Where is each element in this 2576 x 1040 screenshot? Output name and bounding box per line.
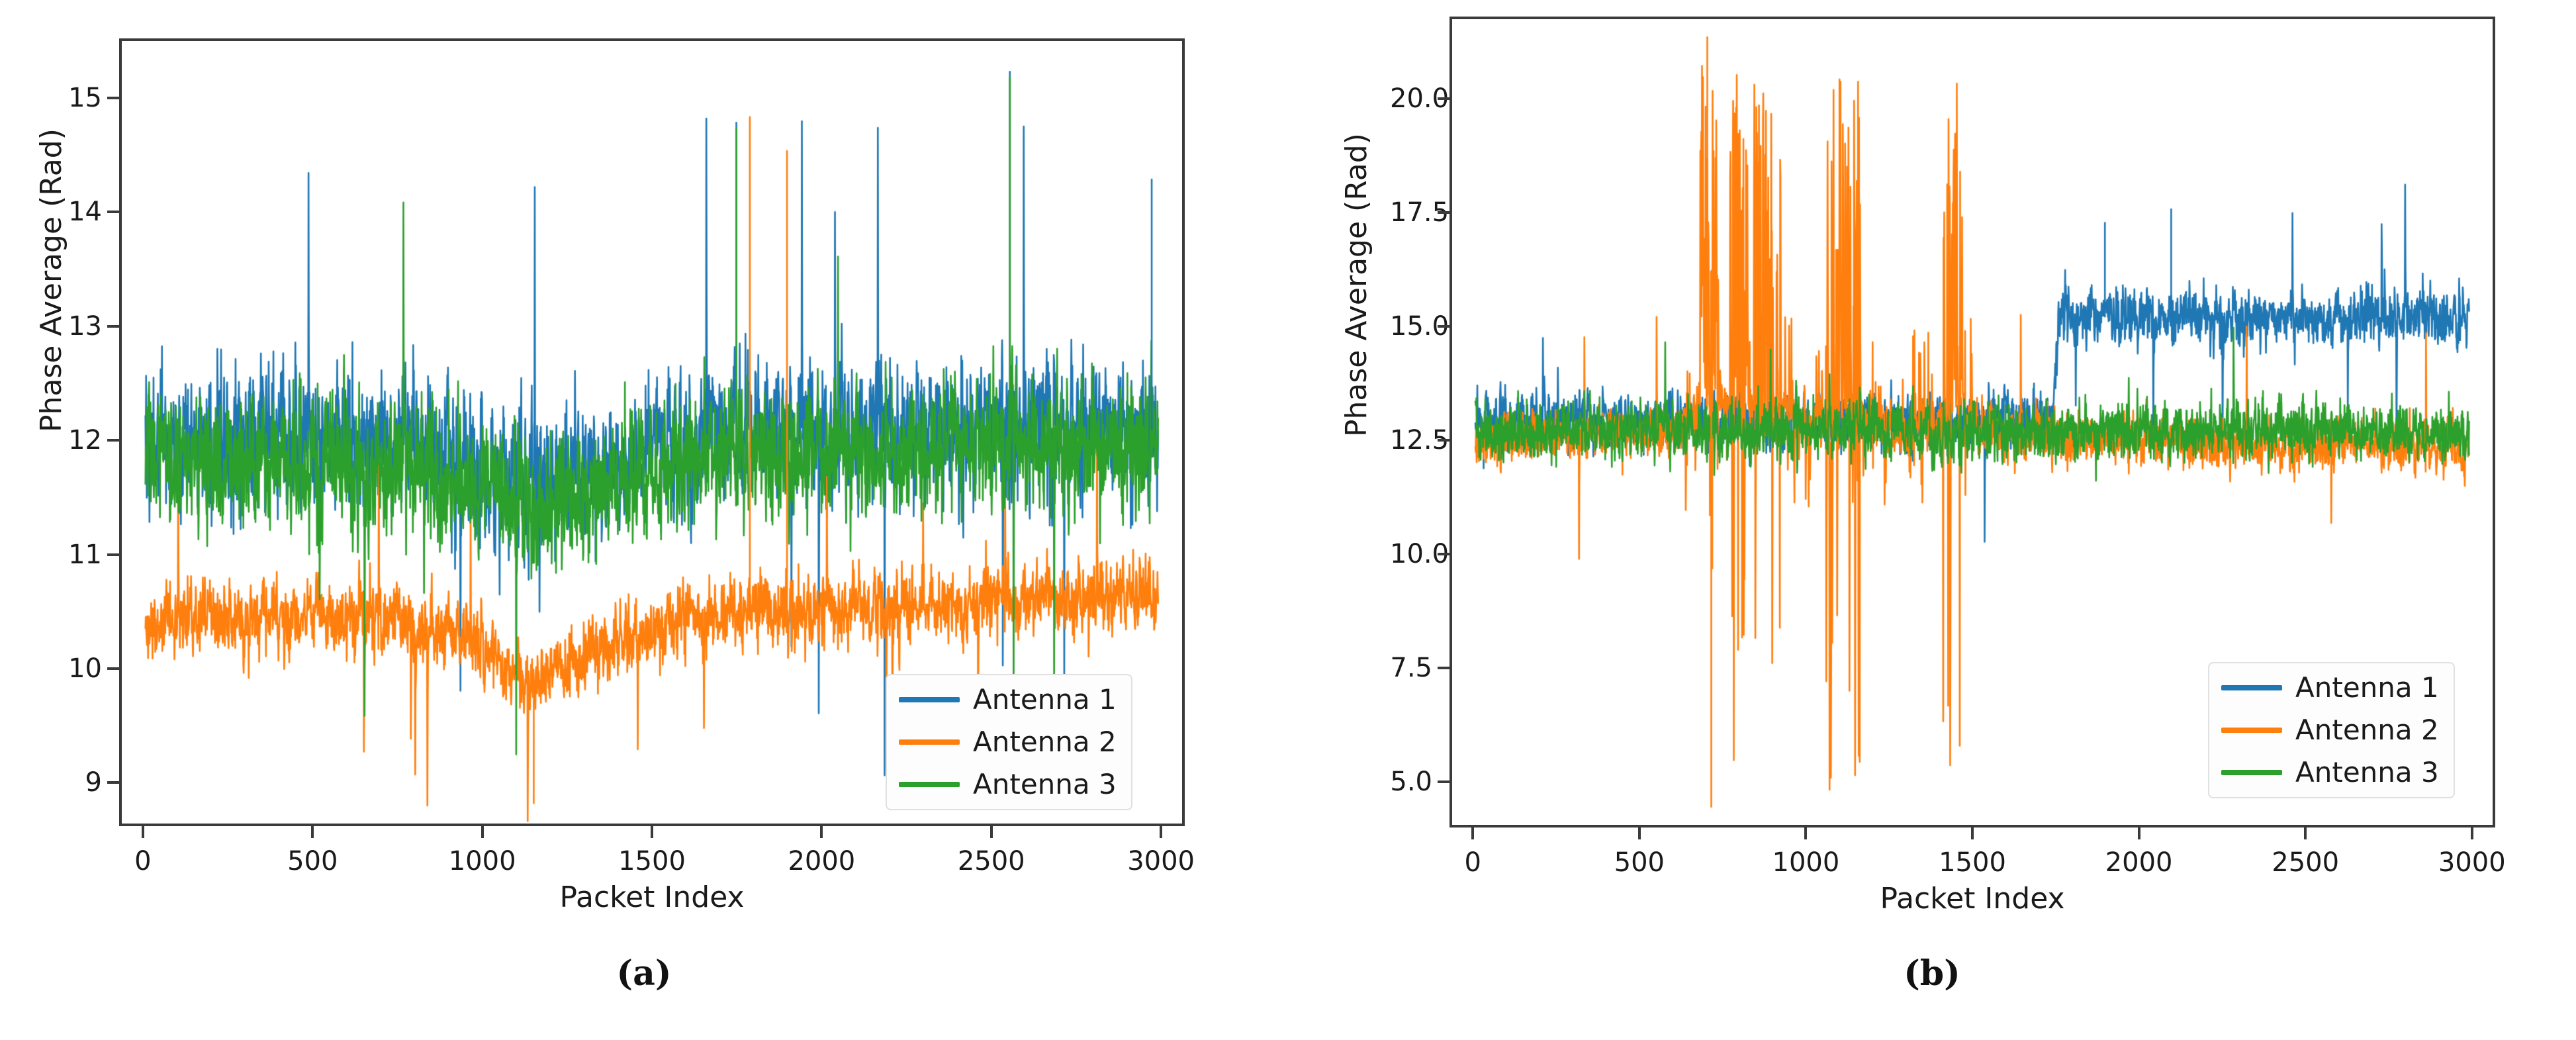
x-tick-mark [1971,827,1974,839]
x-tick-mark [2138,827,2140,839]
x-tick-mark [1638,827,1641,839]
legend-item[interactable]: Antenna 3 [899,771,1117,798]
x-tick-label: 2500 [958,846,1025,876]
y-tick-mark [1438,667,1449,669]
x-tick-label: 3000 [2438,847,2506,878]
y-tick-label: 7.5 [1390,653,1432,683]
x-tick-label: 500 [1614,847,1665,878]
y-tick-mark [107,667,119,670]
y-tick-mark [107,97,119,99]
caption-a: (a) [0,953,1288,994]
legend-item[interactable]: Antenna 3 [2221,759,2439,786]
legend-label: Antenna 2 [973,728,1117,756]
y-tick-label: 11 [60,540,102,570]
x-axis-label-b: Packet Index [1449,882,2495,916]
caption-b: (b) [1288,953,2576,994]
x-tick-label: 1000 [1772,847,1840,878]
legend-a[interactable]: Antenna 1Antenna 2Antenna 3 [886,674,1132,810]
x-tick-label: 3000 [1127,846,1195,876]
x-tick-label: 0 [134,846,151,876]
legend-item[interactable]: Antenna 1 [899,686,1117,714]
x-tick-mark [1804,827,1807,839]
x-tick-mark [1471,827,1474,839]
x-tick-label: 1000 [449,846,516,876]
x-tick-label: 1500 [618,846,686,876]
legend-color-swatch [899,697,960,702]
x-tick-mark [1160,826,1162,838]
x-tick-mark [990,826,993,838]
y-tick-label: 17.5 [1390,197,1432,228]
legend-color-swatch [899,739,960,745]
figure-root: 9101112131415 050010001500200025003000 P… [0,0,2576,1040]
y-tick-mark [107,211,119,213]
legend-color-swatch [899,782,960,787]
y-tick-mark [107,553,119,556]
y-tick-label: 15 [60,83,102,113]
y-tick-label: 10.0 [1390,539,1432,569]
x-tick-label: 1500 [1939,847,2006,878]
y-axis-label-a: Phase Average (Rad) [34,128,68,432]
legend-label: Antenna 1 [973,686,1117,714]
x-tick-mark [311,826,314,838]
x-tick-label: 500 [287,846,338,876]
y-tick-mark [1438,439,1449,442]
legend-label: Antenna 2 [2295,716,2439,744]
y-tick-label: 9 [60,767,102,798]
x-tick-mark [481,826,484,838]
x-tick-label: 2000 [788,846,855,876]
y-tick-label: 5.0 [1390,767,1432,797]
legend-item[interactable]: Antenna 2 [899,728,1117,756]
legend-color-swatch [2221,770,2282,775]
y-tick-mark [1438,97,1449,100]
x-tick-mark [2471,827,2473,839]
x-tick-mark [142,826,144,838]
y-tick-mark [1438,211,1449,214]
y-tick-mark [1438,780,1449,783]
legend-color-swatch [2221,685,2282,690]
legend-color-swatch [2221,728,2282,733]
x-tick-label: 0 [1464,847,1481,878]
y-tick-mark [107,781,119,784]
y-tick-mark [107,325,119,328]
y-tick-mark [1438,325,1449,328]
subfigure-a: 9101112131415 050010001500200025003000 P… [0,0,1288,1040]
y-tick-label: 12.5 [1390,425,1432,455]
legend-label: Antenna 3 [2295,759,2439,786]
y-axis-label-b: Phase Average (Rad) [1340,133,1373,437]
y-tick-mark [107,439,119,442]
legend-b[interactable]: Antenna 1Antenna 2Antenna 3 [2208,662,2455,798]
y-tick-label: 20.0 [1390,83,1432,114]
x-tick-label: 2500 [2272,847,2339,878]
x-tick-mark [820,826,823,838]
x-axis-label-a: Packet Index [119,880,1185,914]
legend-label: Antenna 3 [973,771,1117,798]
legend-label: Antenna 1 [2295,674,2439,702]
legend-item[interactable]: Antenna 1 [2221,674,2439,702]
x-tick-label: 2000 [2105,847,2173,878]
x-tick-mark [2304,827,2307,839]
y-tick-label: 10 [60,653,102,684]
x-tick-mark [651,826,653,838]
y-tick-mark [1438,553,1449,555]
subfigure-b: 5.07.510.012.515.017.520.0 0500100015002… [1288,0,2576,1040]
legend-item[interactable]: Antenna 2 [2221,716,2439,744]
y-tick-label: 15.0 [1390,311,1432,342]
